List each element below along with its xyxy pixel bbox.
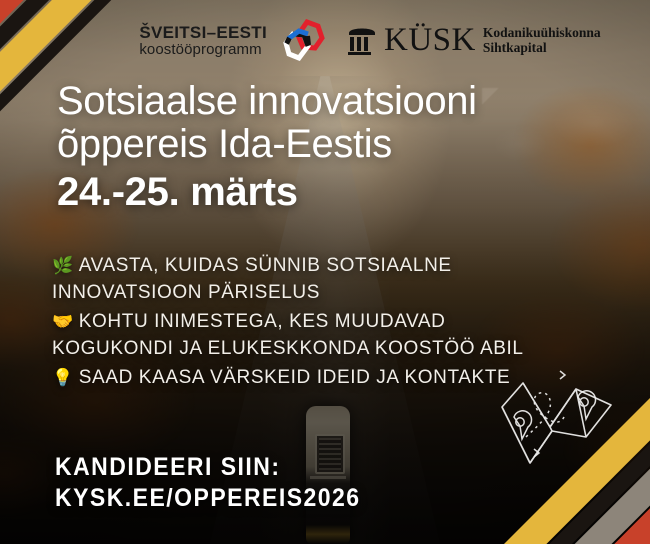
classical-building-icon: [347, 24, 377, 56]
headline-line2: õppereis Ida-Eestis: [57, 123, 617, 166]
bullet-text: KOHTU INIMESTEGA, KES MUUDAVAD KOGUKONDI…: [52, 311, 524, 359]
sveitsi-line2: koostööprogramm: [139, 42, 267, 57]
herb-seedling-icon: 🌿: [52, 256, 74, 275]
kusk-subtitle: Kodanikuühiskonna Sihtkapital: [483, 25, 601, 55]
sveitsi-line1: ŠVEITSI–EESTI: [139, 24, 267, 41]
lightbulb-icon: 💡: [52, 368, 74, 387]
list-item: 🌿AVASTA, KUIDAS SÜNNIB SOTSIAALNE INNOVA…: [52, 253, 532, 307]
logo-bar: ŠVEITSI–EESTI koostööprogramm: [0, 12, 650, 68]
list-item: 🤝KOHTU INIMESTEGA, KES MUUDAVAD KOGUKOND…: [52, 309, 532, 363]
event-date: 24.-25. märts: [57, 170, 617, 215]
kusk-subtitle-line2: Sihtkapital: [483, 40, 601, 55]
kusk-subtitle-line1: Kodanikuühiskonna: [483, 25, 601, 40]
bullet-text: SAAD KAASA VÄRSKEID IDEID JA KONTAKTE: [79, 367, 511, 388]
cta-label: KANDIDEERI SIIN:: [55, 452, 361, 483]
call-to-action[interactable]: KANDIDEERI SIIN: KYSK.EE/OPPEREIS2026: [55, 452, 361, 513]
bullet-text: AVASTA, KUIDAS SÜNNIB SOTSIAALNE INNOVAT…: [52, 255, 452, 303]
swiss-estonian-cooperation-logo: ŠVEITSI–EESTI koostööprogramm: [139, 14, 329, 66]
headline-block: Sotsiaalse innovatsiooni õppereis Ida-Ee…: [57, 80, 617, 214]
cta-url[interactable]: KYSK.EE/OPPEREIS2026: [55, 483, 361, 514]
swiss-estonian-hexagon-mark: [277, 14, 329, 66]
kusk-wordmark: KÜSK: [384, 24, 476, 57]
handshake-icon: 🤝: [52, 312, 74, 331]
bullet-list: 🌿AVASTA, KUIDAS SÜNNIB SOTSIAALNE INNOVA…: [52, 253, 532, 394]
list-item: 💡SAAD KAASA VÄRSKEID IDEID JA KONTAKTE: [52, 365, 532, 392]
kusk-logo: KÜSK Kodanikuühiskonna Sihtkapital: [347, 24, 601, 57]
poster-canvas: ŠVEITSI–EESTI koostööprogramm: [0, 0, 650, 544]
headline-line1: Sotsiaalse innovatsiooni: [57, 80, 617, 123]
sveitsi-wordmark: ŠVEITSI–EESTI koostööprogramm: [139, 24, 267, 57]
